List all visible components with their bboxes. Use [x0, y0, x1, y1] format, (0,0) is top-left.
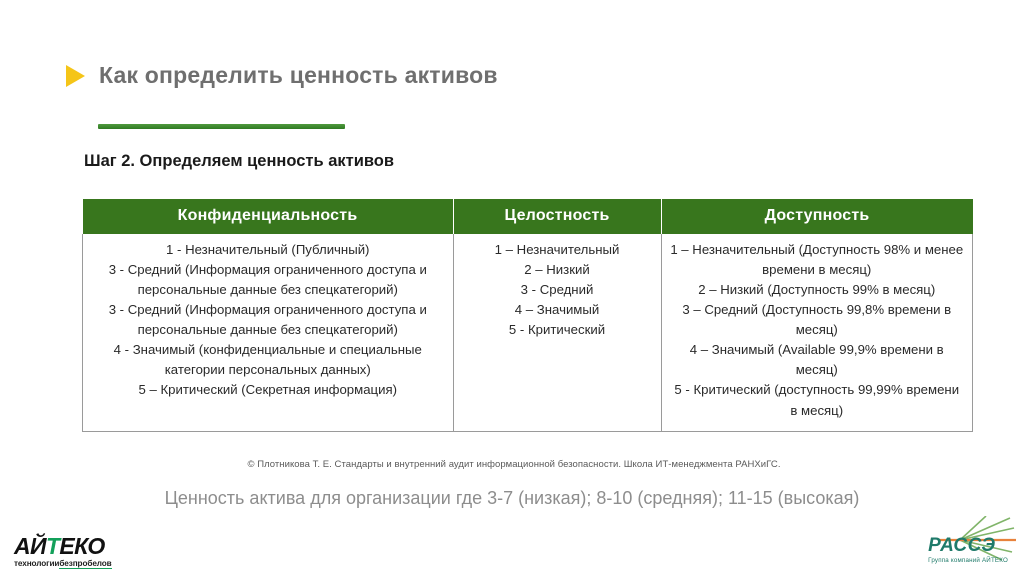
- cell-confidentiality-levels: 1 - Незначительный (Публичный) 3 - Средн…: [83, 234, 454, 431]
- source-footnote: © Плотникова Т. Е. Стандарты и внутренни…: [82, 459, 946, 470]
- column-header-availability: Доступность: [661, 199, 973, 234]
- rasse-logo: РАССЭ Группа компаний АЙТЕКО: [928, 536, 1008, 564]
- list-item: 1 - Незначительный (Публичный): [91, 240, 445, 260]
- aiteco-logo: АЙТЕКО технологиибезпробелов: [14, 535, 112, 568]
- cell-availability-levels: 1 – Незначительный (Доступность 98% и ме…: [661, 234, 973, 431]
- table-row: 1 - Незначительный (Публичный) 3 - Средн…: [83, 234, 973, 431]
- aiteco-wordmark-tick: Т: [46, 533, 59, 559]
- list-item: 5 - Критический: [462, 320, 653, 340]
- aiteco-wordmark-part1: АЙ: [14, 533, 46, 559]
- section-subtitle: Шаг 2. Определяем ценность активов: [84, 152, 394, 171]
- rasse-tagline: Группа компаний АЙТЕКО: [928, 558, 1008, 564]
- list-item: 5 - Критический (доступность 99,99% врем…: [670, 380, 965, 420]
- table-body: 1 - Незначительный (Публичный) 3 - Средн…: [83, 234, 973, 431]
- column-header-integrity: Целостность: [453, 199, 661, 234]
- aiteco-tagline-underlined: безпробелов: [59, 559, 111, 569]
- list-item: 4 – Значимый: [462, 300, 653, 320]
- list-item: 3 - Средний (Информация ограниченного до…: [91, 300, 445, 340]
- asset-value-table: Конфиденциальность Целостность Доступнос…: [82, 199, 973, 432]
- list-item: 3 - Средний: [462, 280, 653, 300]
- list-item: 3 – Средний (Доступность 99,8% времени в…: [670, 300, 965, 340]
- table-header: Конфиденциальность Целостность Доступнос…: [83, 199, 973, 234]
- list-item: 4 - Значимый (конфиденциальные и специал…: [91, 340, 445, 380]
- page-title: Как определить ценность активов: [99, 62, 498, 89]
- list-item: 2 – Низкий: [462, 260, 653, 280]
- aiteco-tagline: технологиибезпробелов: [14, 560, 112, 568]
- list-item: 1 – Незначительный (Доступность 98% и ме…: [670, 240, 965, 280]
- play-triangle-icon: [66, 65, 85, 87]
- accent-divider: [98, 124, 345, 129]
- list-item: 5 – Критический (Секретная информация): [91, 380, 445, 400]
- list-item: 3 - Средний (Информация ограниченного до…: [91, 260, 445, 300]
- bottom-caption: Ценность актива для организации где 3-7 …: [0, 488, 1024, 509]
- aiteco-wordmark: АЙТЕКО: [14, 535, 112, 558]
- rasse-wordmark: РАССЭ: [928, 536, 1008, 555]
- cell-integrity-levels: 1 – Незначительный 2 – Низкий 3 - Средни…: [453, 234, 661, 431]
- column-header-confidentiality: Конфиденциальность: [83, 199, 454, 234]
- list-item: 1 – Незначительный: [462, 240, 653, 260]
- list-item: 2 – Низкий (Доступность 99% в месяц): [670, 280, 965, 300]
- slide-root: Как определить ценность активов Шаг 2. О…: [0, 0, 1024, 576]
- aiteco-tagline-plain: технологии: [14, 559, 59, 568]
- list-item: 4 – Значимый (Available 99,9% времени в …: [670, 340, 965, 380]
- aiteco-wordmark-part2: ЕКО: [59, 533, 104, 559]
- table-header-row: Конфиденциальность Целостность Доступнос…: [83, 199, 973, 234]
- slide-title-row: Как определить ценность активов: [66, 62, 498, 89]
